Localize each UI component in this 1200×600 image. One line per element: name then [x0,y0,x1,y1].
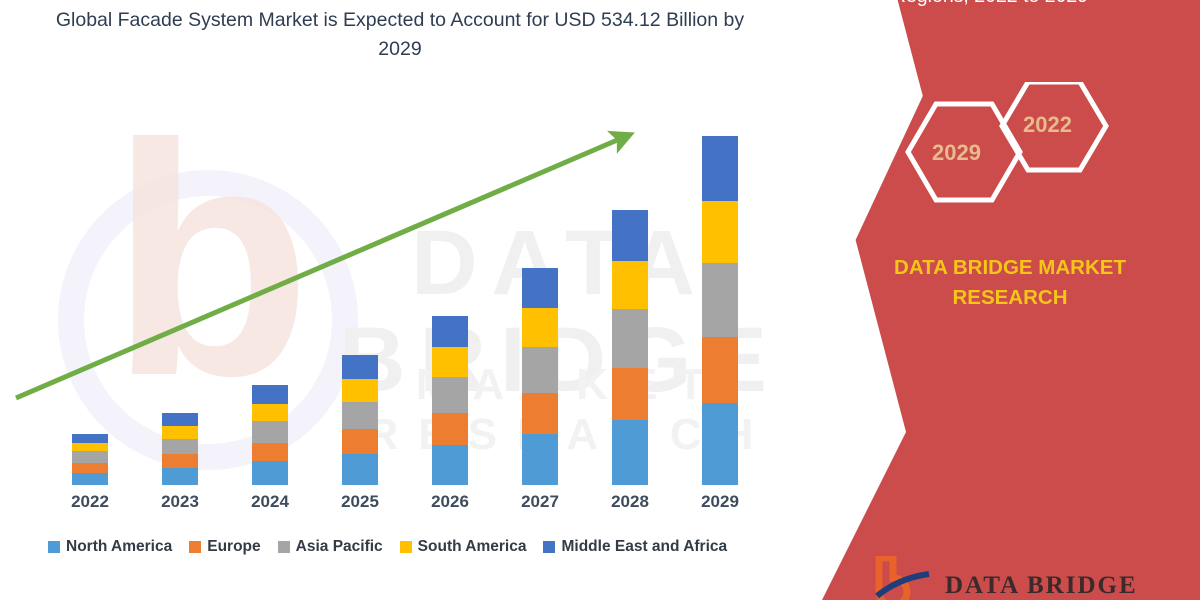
x-axis-tick-2026: 2026 [410,492,490,512]
bar-segment[interactable] [252,461,288,485]
chart-title: Global Facade System Market is Expected … [40,6,760,65]
bar-segment[interactable] [522,434,558,485]
x-axis-labels: 20222023202420252026202720282029 [0,492,820,522]
bar-segment[interactable] [432,316,468,347]
bar-segment[interactable] [342,402,378,429]
bar-segment[interactable] [432,413,468,445]
bar-segment[interactable] [252,385,288,404]
bar-segment[interactable] [702,403,738,485]
db-logo-icon [875,556,935,600]
chart-panel: b DATA BRIDGE MARKET RESEARCH Global Fac… [0,0,860,600]
legend-label: Asia Pacific [296,538,383,556]
bar-column-2022[interactable] [72,434,108,485]
legend-label: Europe [207,538,260,556]
bar-segment[interactable] [612,420,648,485]
bar-segment[interactable] [612,309,648,368]
legend-item[interactable]: Middle East and Africa [543,538,727,556]
bar-segment[interactable] [702,201,738,263]
legend-swatch-icon [543,541,555,553]
bar-segment[interactable] [702,136,738,201]
bar-segment[interactable] [522,268,558,308]
bar-column-2028[interactable] [612,210,648,485]
bar-segment[interactable] [162,454,198,468]
bar-column-2025[interactable] [342,355,378,485]
bar-segment[interactable] [72,473,108,485]
bar-segment[interactable] [432,445,468,485]
bar-segment[interactable] [702,263,738,337]
bar-segment[interactable] [342,454,378,485]
brand-logo-text: DATA BRIDGE [945,572,1138,600]
legend-swatch-icon [400,541,412,553]
legend-label: South America [418,538,527,556]
hexagon-badge-group: 2029 2022 [890,82,1130,222]
bar-segment[interactable] [342,355,378,379]
x-axis-tick-2029: 2029 [680,492,760,512]
bar-segment[interactable] [432,347,468,377]
legend-swatch-icon [278,541,290,553]
chart-plot-area [0,110,860,485]
brand-logo: DATA BRIDGE [875,556,1138,600]
chart-legend: North AmericaEuropeAsia PacificSouth Ame… [48,538,727,556]
bar-segment[interactable] [252,404,288,421]
bar-segment[interactable] [72,451,108,462]
legend-label: Middle East and Africa [561,538,727,556]
bar-segment[interactable] [72,463,108,473]
bar-segment[interactable] [522,308,558,347]
legend-swatch-icon [189,541,201,553]
bar-segment[interactable] [72,443,108,452]
bar-segment[interactable] [252,443,288,462]
legend-item[interactable]: South America [400,538,527,556]
bar-segment[interactable] [342,429,378,454]
bar-segment[interactable] [342,379,378,401]
bar-column-2026[interactable] [432,316,468,485]
x-axis-tick-2028: 2028 [590,492,670,512]
bar-segment[interactable] [252,421,288,442]
x-axis-tick-2025: 2025 [320,492,400,512]
bar-segment[interactable] [162,426,198,438]
legend-item[interactable]: North America [48,538,172,556]
legend-swatch-icon [48,541,60,553]
bar-column-2024[interactable] [252,385,288,485]
x-axis-tick-2024: 2024 [230,492,310,512]
bar-segment[interactable] [612,210,648,261]
bar-segment[interactable] [522,393,558,434]
legend-item[interactable]: Asia Pacific [278,538,383,556]
hexagon-2029-label: 2029 [932,140,981,166]
bar-segment[interactable] [432,377,468,413]
bar-column-2029[interactable] [702,136,738,485]
bar-segment[interactable] [162,439,198,454]
brand-name: DATA BRIDGE MARKET RESEARCH [850,253,1170,312]
legend-label: North America [66,538,172,556]
bar-segment[interactable] [702,337,738,403]
hexagon-2022-label: 2022 [1023,112,1072,138]
bar-column-2023[interactable] [162,413,198,485]
bar-column-2027[interactable] [522,268,558,485]
x-axis-tick-2027: 2027 [500,492,580,512]
legend-item[interactable]: Europe [189,538,260,556]
x-axis-tick-2022: 2022 [50,492,130,512]
bar-segment[interactable] [612,368,648,420]
bar-segment[interactable] [162,413,198,427]
x-axis-tick-2023: 2023 [140,492,220,512]
bar-segment[interactable] [162,468,198,485]
bar-segment[interactable] [612,261,648,310]
bar-segment[interactable] [522,347,558,393]
bar-segment[interactable] [72,434,108,443]
